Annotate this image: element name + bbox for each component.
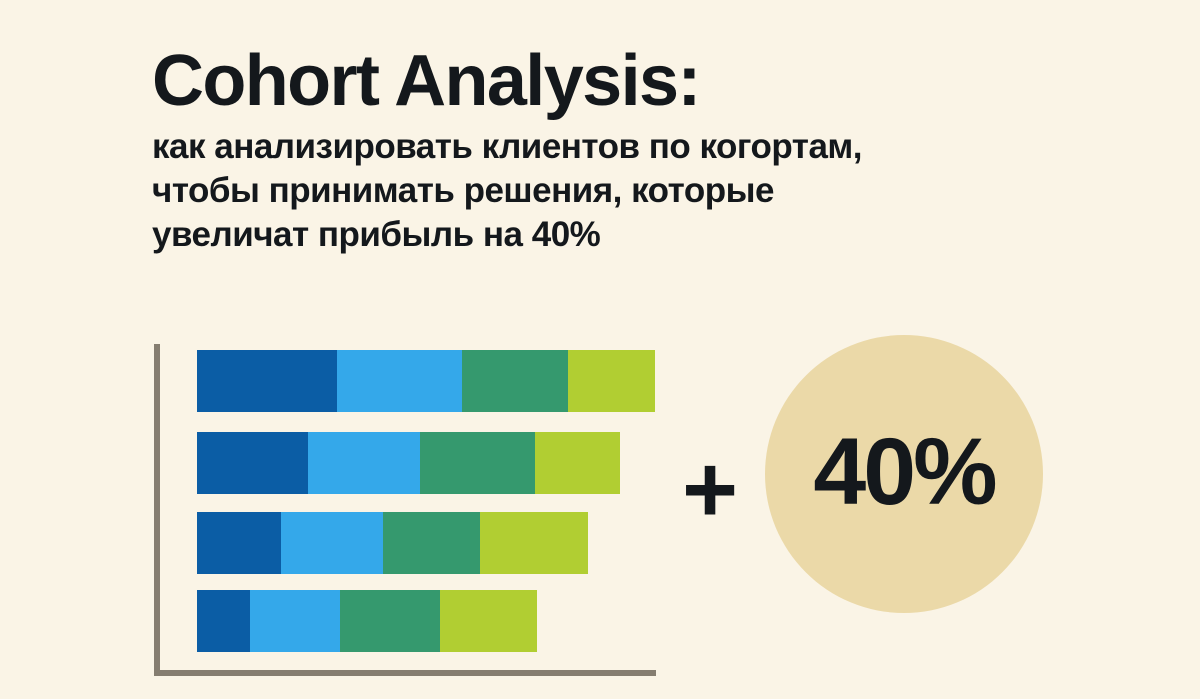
bar-segment: [462, 350, 568, 412]
subtitle-line-1: как анализировать клиентов по когортам,: [152, 125, 1012, 169]
bar-segment: [308, 432, 420, 494]
chart-bar-cohort-2: [197, 432, 620, 494]
bar-segment: [568, 350, 655, 412]
bar-segment: [197, 590, 250, 652]
bar-segment: [281, 512, 383, 574]
bar-segment: [420, 432, 535, 494]
bar-segment: [337, 350, 462, 412]
infographic-poster: Cohort Analysis: как анализировать клиен…: [0, 0, 1200, 699]
page-subtitle: как анализировать клиентов по когортам, …: [152, 125, 1012, 257]
chart-bar-cohort-1: [197, 350, 655, 412]
bar-segment: [383, 512, 480, 574]
bar-segment: [197, 350, 337, 412]
bar-segment: [197, 432, 308, 494]
bar-segment: [250, 590, 340, 652]
bar-segment: [480, 512, 588, 574]
y-axis-line: [154, 344, 160, 672]
bar-segment: [340, 590, 440, 652]
x-axis-line: [154, 670, 656, 676]
page-title: Cohort Analysis:: [152, 46, 1012, 117]
badge-circle: 40%: [765, 335, 1043, 613]
plus-icon: +: [682, 442, 738, 538]
subtitle-line-3: увеличат прибыль на 40%: [152, 213, 1012, 257]
chart-bar-cohort-3: [197, 512, 588, 574]
bar-segment: [440, 590, 537, 652]
bar-segment: [197, 512, 281, 574]
bar-segment: [535, 432, 620, 494]
chart-bar-cohort-4: [197, 590, 537, 652]
subtitle-line-2: чтобы принимать решения, которые: [152, 169, 1012, 213]
text-block: Cohort Analysis: как анализировать клиен…: [152, 46, 1012, 257]
stacked-bar-chart: [150, 340, 670, 676]
badge-value-label: 40%: [813, 425, 994, 520]
